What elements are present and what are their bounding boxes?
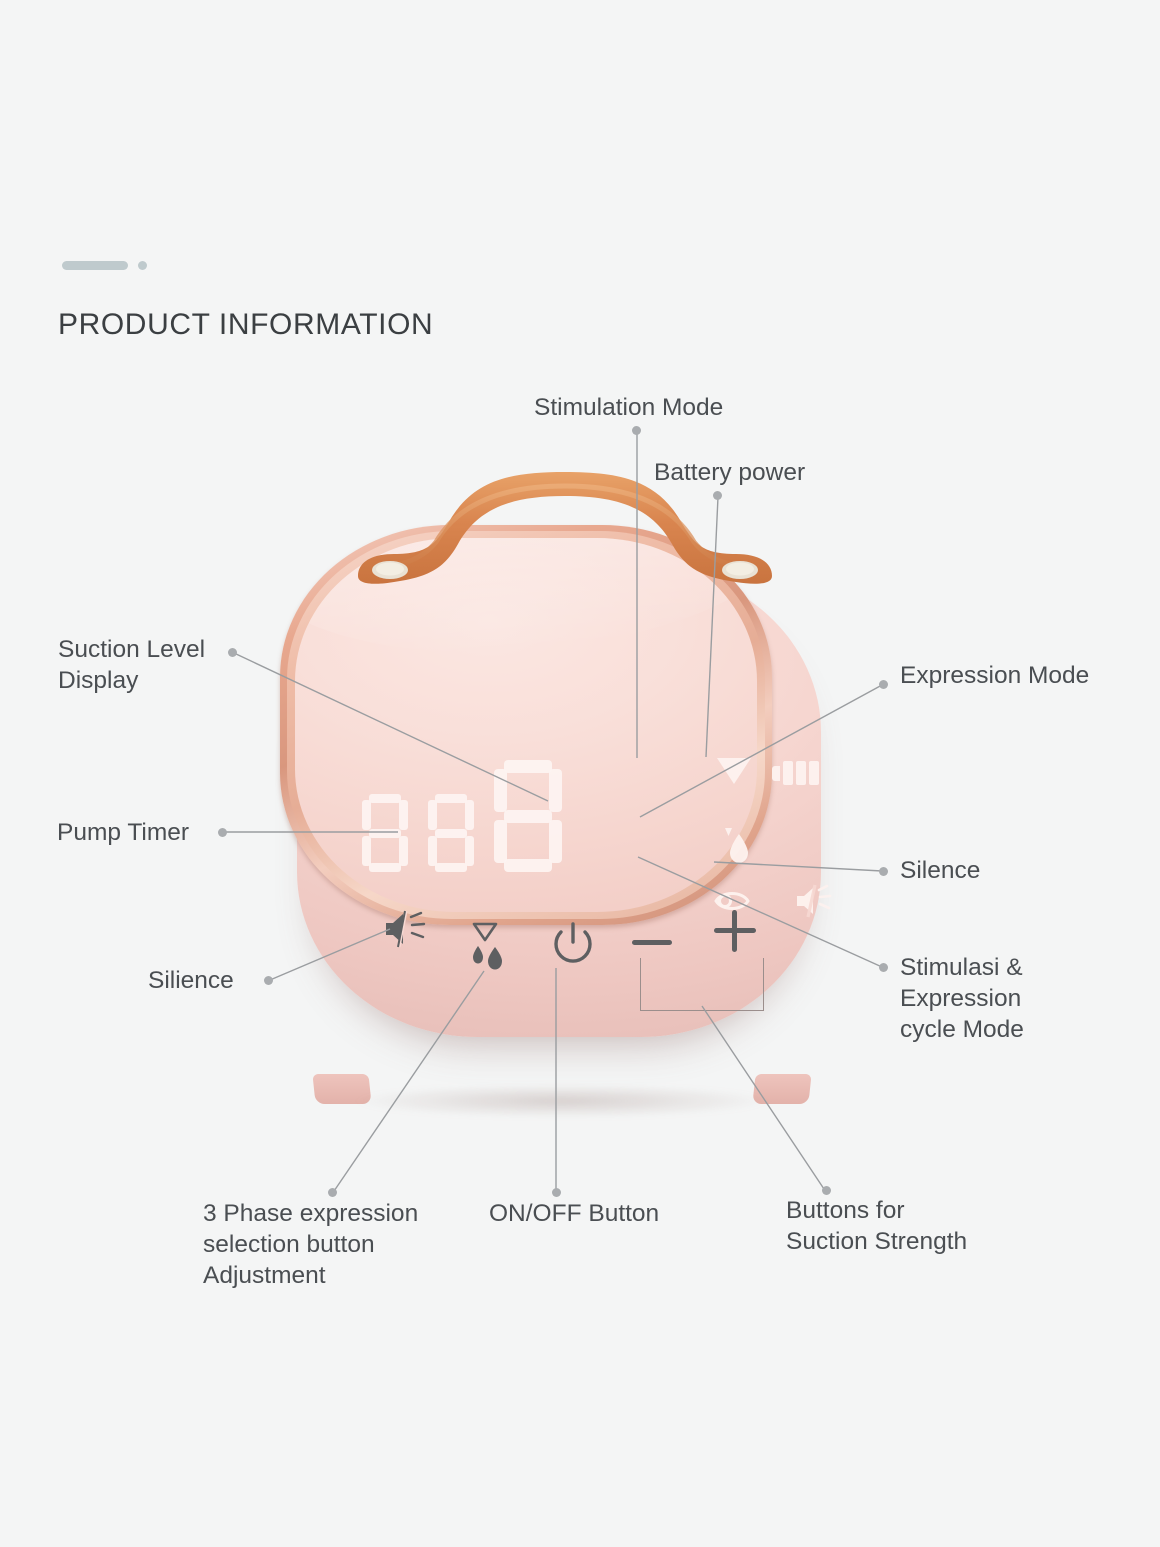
callout-suction-level-display: Suction Level Display — [58, 634, 205, 696]
battery-bar-3 — [809, 761, 819, 785]
timer-digit-2 — [428, 794, 474, 872]
suction-decrease-button[interactable] — [632, 940, 672, 945]
leader-dot-stimulation-mode — [632, 426, 641, 435]
leader-dot-expression-mode — [879, 680, 888, 689]
leader-dot-pump-timer — [218, 828, 227, 837]
callout-cycle-mode: Stimulasi & Expression cycle Mode — [900, 952, 1024, 1045]
leader-dot-on-off-button — [552, 1188, 561, 1197]
callout-silience-button: Silience — [148, 965, 234, 996]
callout-silence-indicator: Silence — [900, 855, 980, 886]
leader-dot-silience-button — [264, 976, 273, 985]
timer-digit-1 — [362, 794, 408, 872]
pump-timer-digits — [362, 760, 562, 872]
silence-mute-button[interactable] — [384, 910, 432, 948]
stimulation-triangle-icon — [717, 758, 751, 784]
callout-stimulation-mode: Stimulation Mode — [534, 392, 723, 423]
leader-dot-suction-level-display — [228, 648, 237, 657]
battery-level-icon — [772, 760, 834, 786]
callout-pump-timer: Pump Timer — [57, 817, 189, 848]
phase-selection-button[interactable] — [468, 920, 510, 972]
suction-level-digit — [494, 760, 562, 872]
expression-drop-icon — [719, 824, 753, 864]
lcd-display — [362, 738, 662, 868]
callout-expression-mode: Expression Mode — [900, 660, 1089, 691]
page-title: PRODUCT INFORMATION — [58, 308, 433, 342]
accent-decoration — [62, 261, 147, 270]
accent-dot-icon — [138, 261, 147, 270]
callout-on-off-button: ON/OFF Button — [489, 1198, 659, 1229]
battery-bar-1 — [783, 761, 793, 785]
suction-buttons-bracket — [640, 958, 764, 1011]
breast-pump-device — [262, 470, 862, 1090]
leader-dot-silence-indicator — [879, 867, 888, 876]
leader-dot-cycle-mode — [879, 963, 888, 972]
leader-dot-battery-power — [713, 491, 722, 500]
silence-mute-indicator-icon — [794, 884, 838, 918]
battery-bar-2 — [796, 761, 806, 785]
callout-three-phase-selection: 3 Phase expression selection button Adju… — [203, 1198, 418, 1291]
battery-cap-icon — [772, 766, 780, 781]
leader-dot-suction-strength-buttons — [822, 1186, 831, 1195]
device-ground-shadow — [272, 1078, 852, 1124]
suction-increase-button[interactable] — [714, 910, 756, 952]
accent-bar-icon — [62, 261, 128, 270]
leader-dot-three-phase-selection — [328, 1188, 337, 1197]
power-button[interactable] — [552, 922, 594, 968]
product-information-page: PRODUCT INFORMATION — [0, 0, 1160, 1547]
carry-handle — [350, 470, 780, 585]
callout-suction-strength-buttons: Buttons for Suction Strength — [786, 1195, 967, 1257]
